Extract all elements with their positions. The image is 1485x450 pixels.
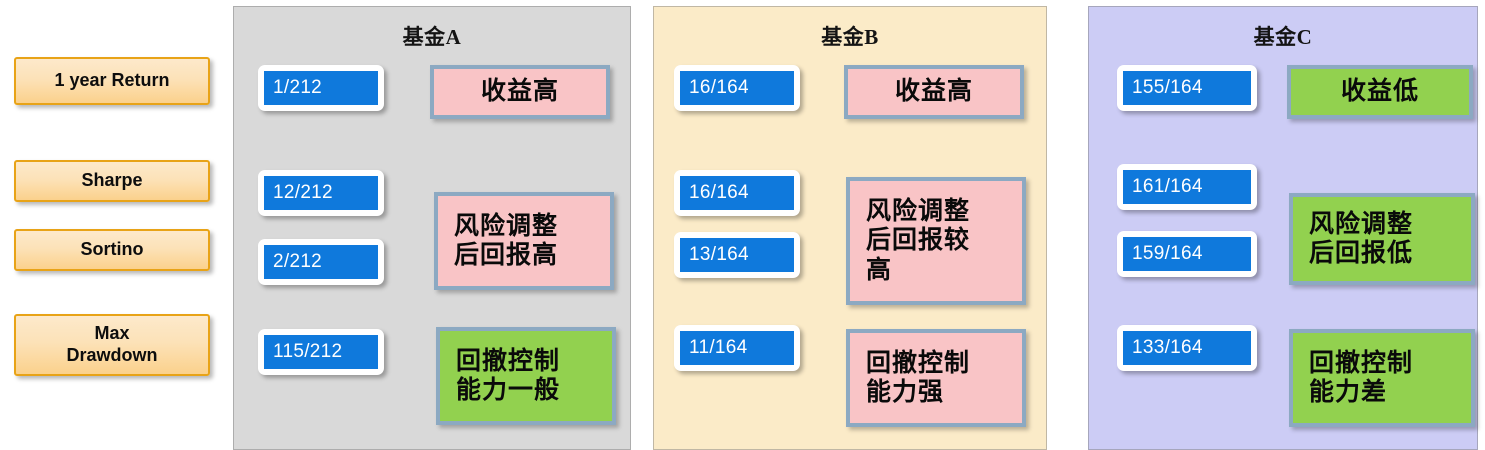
- fund-panel-title: 基金B: [654, 21, 1046, 51]
- rank-badge-value: 16/164: [680, 176, 794, 210]
- verdict-box: 收益高: [430, 65, 610, 119]
- metric-button-sortino[interactable]: Sortino: [14, 229, 210, 271]
- verdict-box: 风险调整 后回报低: [1289, 193, 1475, 285]
- rank-badge-value: 115/212: [264, 335, 378, 369]
- rank-badge-value: 159/164: [1123, 237, 1251, 271]
- rank-badge-value: 1/212: [264, 71, 378, 105]
- verdict-box: 收益低: [1287, 65, 1473, 119]
- rank-badge: 2/212: [258, 239, 384, 285]
- fund-panel-title: 基金C: [1089, 21, 1477, 51]
- rank-badge-value: 16/164: [680, 71, 794, 105]
- verdict-box: 回撤控制 能力一般: [436, 327, 616, 425]
- rank-badge: 161/164: [1117, 164, 1257, 210]
- rank-badge-value: 11/164: [680, 331, 794, 365]
- metric-button-one-year-return[interactable]: 1 year Return: [14, 57, 210, 105]
- metric-button-sharpe[interactable]: Sharpe: [14, 160, 210, 202]
- rank-badge-value: 12/212: [264, 176, 378, 210]
- fund-panel-2: 基金B16/16416/16413/16411/164收益高风险调整 后回报较 …: [653, 6, 1047, 450]
- rank-badge-value: 155/164: [1123, 71, 1251, 105]
- rank-badge: 115/212: [258, 329, 384, 375]
- rank-badge-value: 13/164: [680, 238, 794, 272]
- rank-badge: 16/164: [674, 65, 800, 111]
- rank-badge-value: 133/164: [1123, 331, 1251, 365]
- verdict-box: 风险调整 后回报较 高: [846, 177, 1026, 305]
- rank-badge: 16/164: [674, 170, 800, 216]
- metric-button-max-drawdown[interactable]: Max Drawdown: [14, 314, 210, 376]
- rank-badge: 13/164: [674, 232, 800, 278]
- fund-comparison-board: 1 year ReturnSharpeSortinoMax Drawdown基金…: [0, 0, 1485, 450]
- rank-badge: 12/212: [258, 170, 384, 216]
- rank-badge-value: 2/212: [264, 245, 378, 279]
- verdict-box: 风险调整 后回报高: [434, 192, 614, 290]
- verdict-box: 收益高: [844, 65, 1024, 119]
- rank-badge: 11/164: [674, 325, 800, 371]
- rank-badge-value: 161/164: [1123, 170, 1251, 204]
- rank-badge: 133/164: [1117, 325, 1257, 371]
- verdict-box: 回撤控制 能力强: [846, 329, 1026, 427]
- verdict-box: 回撤控制 能力差: [1289, 329, 1475, 427]
- rank-badge: 1/212: [258, 65, 384, 111]
- fund-panel-title: 基金A: [234, 21, 630, 51]
- fund-panel-1: 基金A1/21212/2122/212115/212收益高风险调整 后回报高回撤…: [233, 6, 631, 450]
- rank-badge: 155/164: [1117, 65, 1257, 111]
- rank-badge: 159/164: [1117, 231, 1257, 277]
- fund-panel-3: 基金C155/164161/164159/164133/164收益低风险调整 后…: [1088, 6, 1478, 450]
